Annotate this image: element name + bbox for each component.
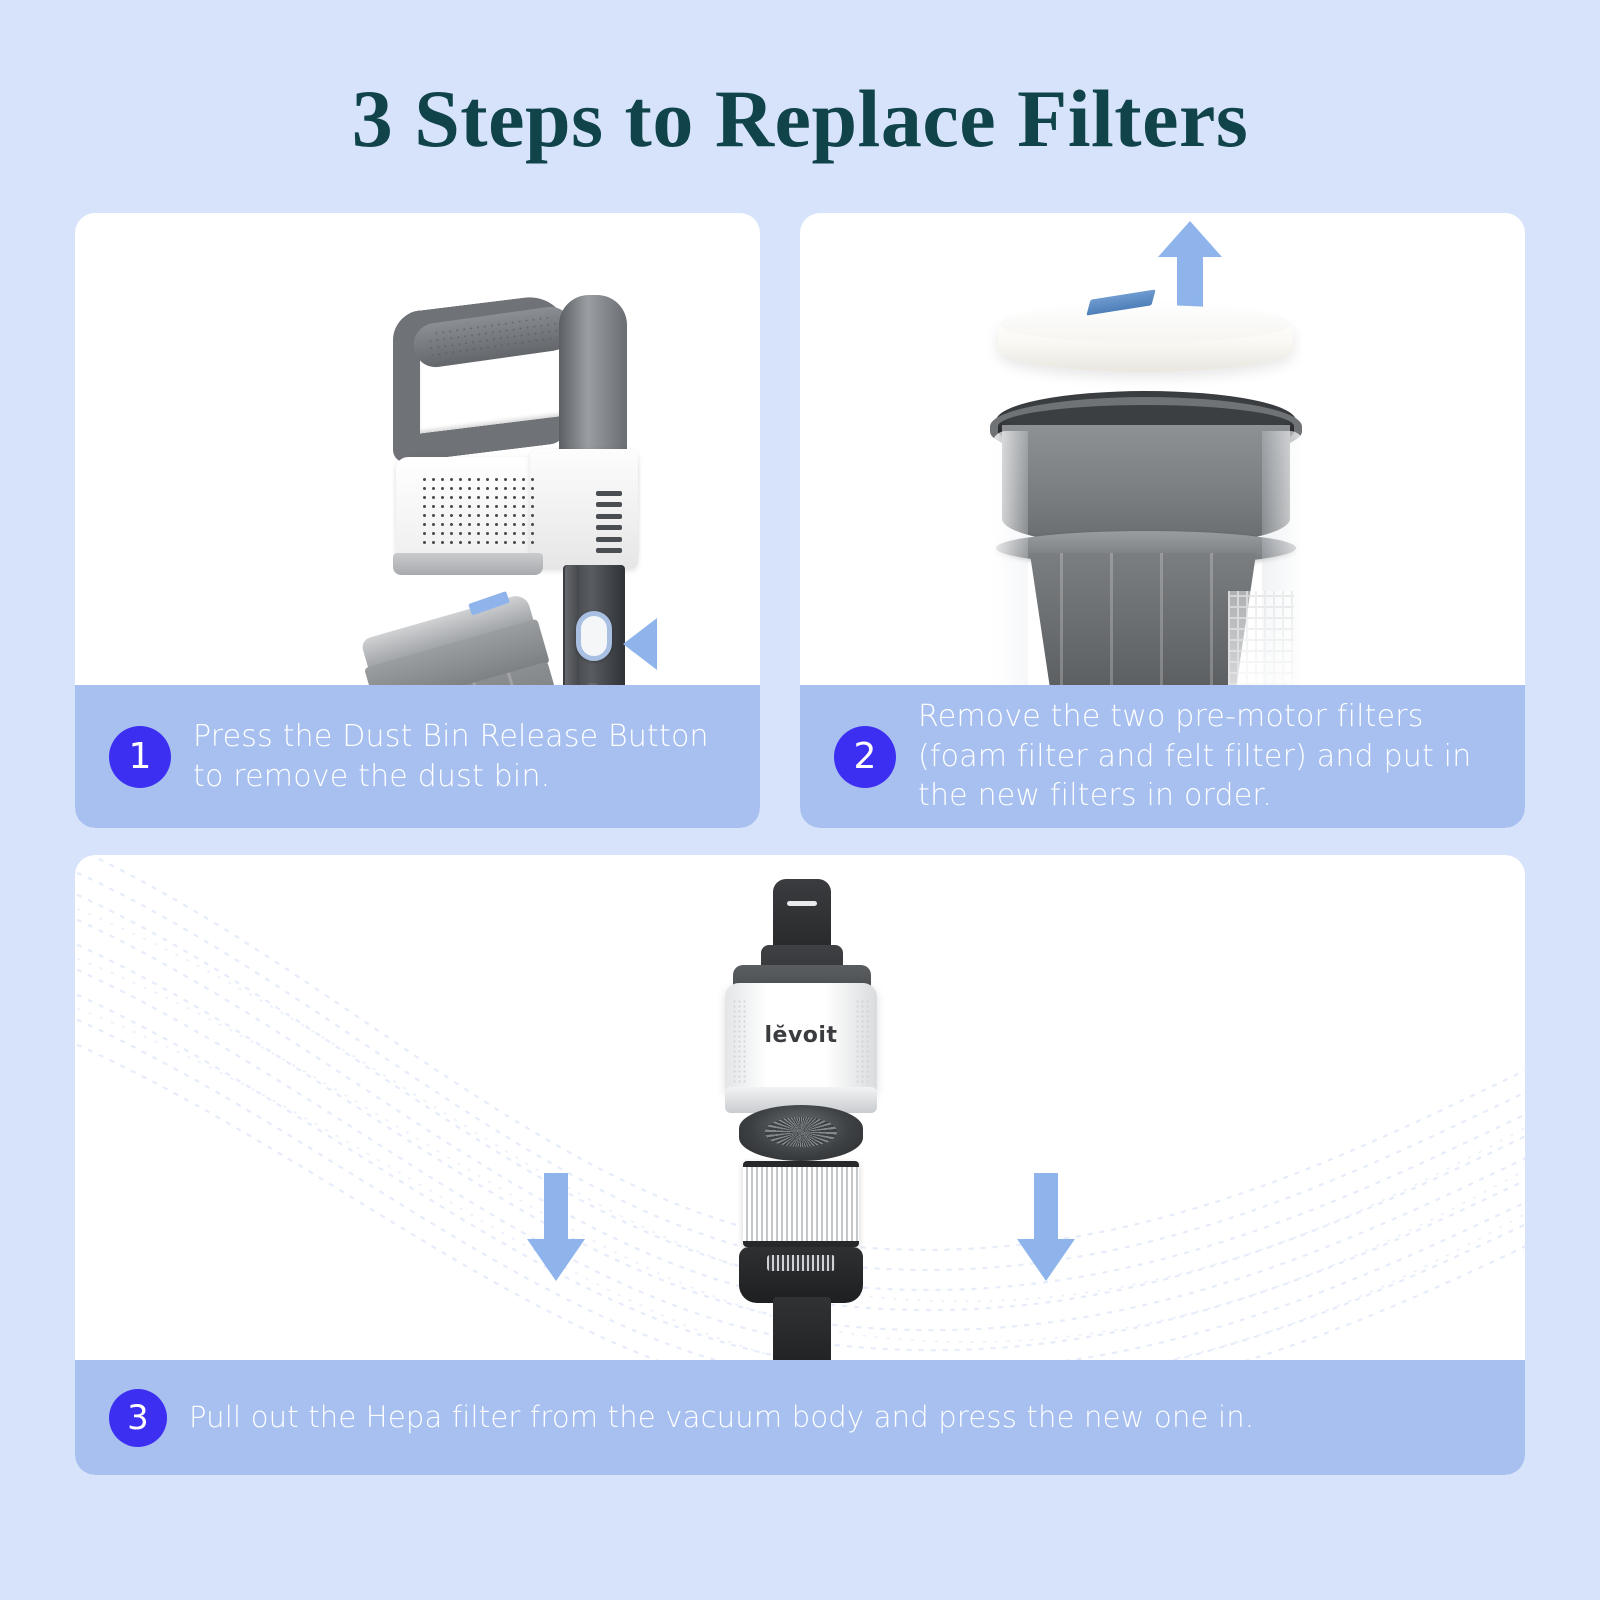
vacuum-top-cap: [773, 879, 831, 951]
vacuum-slot-vents: [596, 491, 622, 553]
vacuum-upper-column: [559, 295, 627, 463]
step-1-badge: 1: [109, 726, 171, 788]
vacuum-cap-indicator: [787, 901, 817, 906]
step-card-2: 2 Remove the two pre-motor filters (foam…: [800, 213, 1525, 828]
step-2-caption: 2 Remove the two pre-motor filters (foam…: [800, 685, 1525, 828]
step-card-3: lĕvoit 3 Pull out the Hepa filter from t…: [75, 855, 1525, 1475]
vacuum-base-connector: [739, 1247, 863, 1303]
page-title: 3 Steps to Replace Filters: [0, 72, 1600, 166]
dust-bin-internal-parts: [1228, 591, 1294, 685]
hepa-filter: [743, 1161, 859, 1247]
down-arrow-left-icon: [527, 1173, 585, 1281]
step-3-badge: 3: [109, 1389, 167, 1447]
down-arrow-right-icon: [1017, 1173, 1075, 1281]
vacuum-mesh-vent: [420, 475, 537, 545]
vacuum-body-assembly: lĕvoit: [695, 865, 905, 1360]
dust-bin-upper-drum: [1002, 425, 1290, 545]
vacuum-stem: [773, 1297, 831, 1360]
dust-bin-release-button[interactable]: [576, 611, 612, 661]
step-card-1: 1 Press the Dust Bin Release Button to r…: [75, 213, 760, 828]
brand-logo: lĕvoit: [725, 1023, 877, 1048]
foam-filter-top-face: [1000, 305, 1290, 343]
step-1-caption: 1 Press the Dust Bin Release Button to r…: [75, 685, 760, 828]
up-arrow-icon: [1158, 221, 1222, 311]
vacuum-motor-grille: [739, 1105, 863, 1161]
dust-bin-clear-left: [992, 431, 1028, 685]
left-triangle-arrow-icon: [623, 618, 657, 670]
vacuum-body-foot: [393, 553, 543, 575]
dust-bin-assembly: [996, 391, 1296, 685]
step-2-badge: 2: [834, 726, 896, 788]
step-3-text: Pull out the Hepa filter from the vacuum…: [189, 1398, 1254, 1436]
step-2-text: Remove the two pre-motor filters (foam f…: [918, 697, 1491, 816]
step-3-caption: 3 Pull out the Hepa filter from the vacu…: [75, 1360, 1525, 1475]
step-1-text: Press the Dust Bin Release Button to rem…: [193, 717, 726, 796]
